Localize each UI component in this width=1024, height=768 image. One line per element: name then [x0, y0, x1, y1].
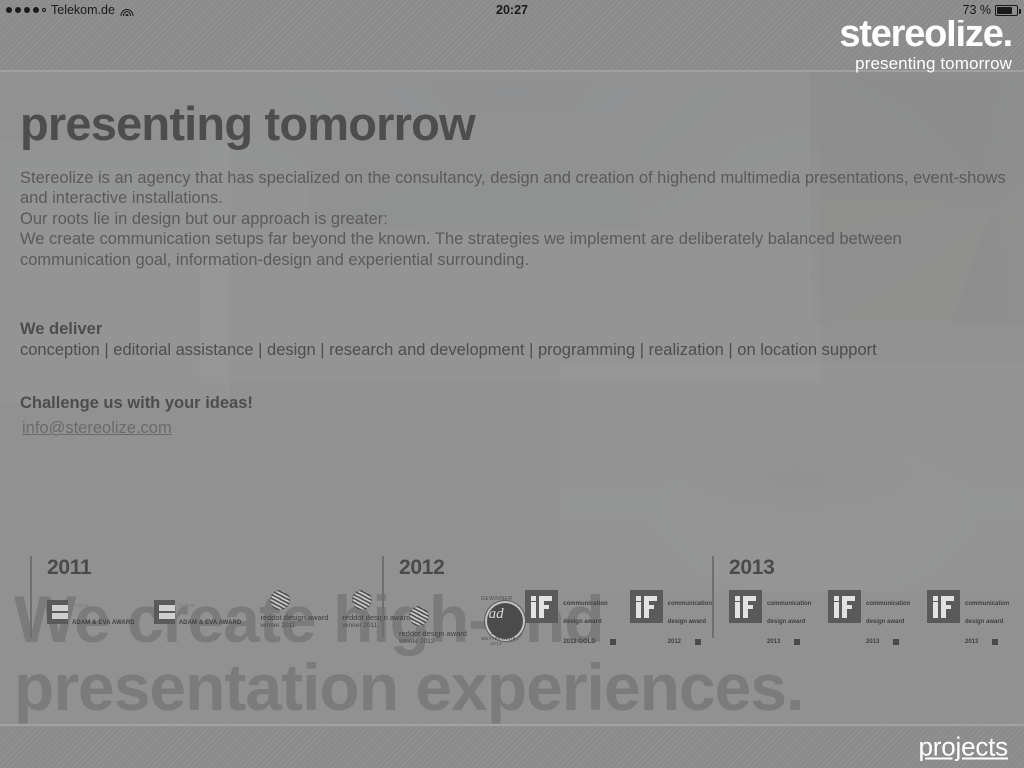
if-year: 2012	[668, 639, 681, 645]
award-badge-if: communication design award 2012 GOLD	[525, 590, 615, 645]
if-footer: 2013	[767, 639, 811, 645]
if-footer: 2013	[866, 639, 910, 645]
famab-label: FAMAB ADAM & EVA AWARD	[179, 595, 247, 629]
we-deliver-services: conception | editorial assistance | desi…	[20, 340, 877, 360]
award-badge-reddot: reddot design award winner 2011	[260, 590, 328, 629]
award-year-label: 2013	[729, 556, 1012, 580]
battery-percent-label: 73 %	[963, 0, 992, 20]
if-logo-icon	[525, 590, 558, 623]
if-label: communication design award 2013	[767, 590, 811, 645]
award-badge-if: communication design award 2012	[630, 590, 712, 645]
if-logo-icon	[729, 590, 762, 623]
famab-title: ADAM & EVA AWARD	[179, 620, 242, 626]
if-label: communication design award 2013	[866, 590, 910, 645]
award-badge-list: communication design award 2013 c	[729, 590, 1012, 645]
famab-org: FAMAB	[72, 603, 89, 608]
award-badge-famab: FAMAB ADAM & EVA AWARD	[154, 595, 247, 629]
if-title: communication design award	[668, 601, 712, 625]
reddot-subtitle: winner 2012	[399, 638, 467, 645]
if-year: 2013	[767, 639, 780, 645]
app-footer: projects	[0, 724, 1024, 768]
seal-top-text: GEWINNER	[481, 596, 511, 602]
reddot-logo-icon	[352, 590, 372, 610]
award-badge-reddot: reddot design award winner 2012	[399, 606, 467, 645]
award-badge-if: communication design award 2013	[927, 590, 1012, 645]
reddot-subtitle: winner 2011	[260, 622, 328, 629]
if-square-icon	[992, 639, 998, 645]
contact-email-link[interactable]: info@stereolize.com	[22, 419, 172, 438]
famab-title: ADAM & EVA AWARD	[72, 620, 135, 626]
if-title: communication design award	[767, 601, 811, 625]
intro-paragraph: Stereolize is an agency that has special…	[20, 168, 1010, 270]
reddot-title: reddot design award	[260, 613, 328, 622]
award-group-2013: 2013 communication design award 2013	[712, 556, 1012, 638]
if-label: communication design award 2012 GOLD	[563, 590, 615, 645]
award-badge-list: FAMAB ADAM & EVA AWARD FAMAB ADAM & EVA …	[47, 590, 378, 629]
brand-logo: stereolize. presenting tomorrow	[839, 16, 1012, 74]
main-content: presenting tomorrow Stereolize is an age…	[0, 72, 1024, 724]
famab-logo-icon	[154, 600, 175, 624]
if-year: 2012 GOLD	[563, 639, 595, 645]
award-badge-if: communication design award 2013	[828, 590, 913, 645]
projects-link[interactable]: projects	[919, 732, 1008, 763]
famab-org: FAMAB	[179, 603, 196, 608]
famab-logo-icon	[47, 600, 68, 624]
challenge-heading: Challenge us with your ideas!	[20, 394, 253, 413]
if-logo-icon	[828, 590, 861, 623]
brand-tagline: presenting tomorrow	[839, 54, 1012, 74]
awards-timeline: 2011 FAMAB ADAM & EVA AWARD FAMAB A	[30, 556, 1010, 638]
award-badge-adc-seal: GEWINNER ad ADC WETTBEWERB 2012	[481, 597, 511, 645]
seal-bottom-text: ADC WETTBEWERB 2012	[481, 631, 511, 646]
if-label: communication design award 2012	[668, 590, 712, 645]
famab-label: FAMAB ADAM & EVA AWARD	[72, 595, 140, 629]
battery-icon	[995, 5, 1018, 16]
status-bar: Telekom.de 20:27 73 %	[0, 0, 1024, 20]
status-bar-clock: 20:27	[0, 0, 1024, 20]
reddot-title: reddot design award	[399, 629, 467, 638]
if-square-icon	[695, 639, 701, 645]
if-label: communication design award 2013	[965, 590, 1009, 645]
if-title: communication design award	[965, 601, 1009, 625]
app-root: We create high-end presentation experien…	[0, 0, 1024, 768]
if-year: 2013	[866, 639, 879, 645]
if-year: 2013	[965, 639, 978, 645]
reddot-logo-icon	[409, 606, 429, 626]
if-footer: 2012	[668, 639, 712, 645]
seal-monogram: ad	[481, 606, 511, 623]
award-year-label: 2012	[399, 556, 712, 580]
brand-name: stereolize.	[839, 16, 1012, 52]
award-badge-if: communication design award 2013	[729, 590, 814, 645]
award-badge-famab: FAMAB ADAM & EVA AWARD	[47, 595, 140, 629]
if-footer: 2012 GOLD	[563, 639, 615, 645]
award-group-2011: 2011 FAMAB ADAM & EVA AWARD FAMAB A	[30, 556, 378, 638]
if-title: communication design award	[563, 601, 607, 625]
award-group-2012: 2012 reddot design award winner 2012 GEW…	[382, 556, 712, 638]
status-bar-right: 73 %	[963, 0, 1019, 20]
if-square-icon	[794, 639, 800, 645]
if-logo-icon	[927, 590, 960, 623]
award-badge-list: reddot design award winner 2012 GEWINNER…	[399, 590, 712, 645]
award-year-label: 2011	[47, 556, 378, 580]
if-footer: 2013	[965, 639, 1009, 645]
page-title: presenting tomorrow	[20, 96, 475, 151]
if-logo-icon	[630, 590, 663, 623]
if-square-icon	[610, 639, 616, 645]
we-deliver-heading: We deliver	[20, 320, 102, 339]
reddot-logo-icon	[270, 590, 290, 610]
if-square-icon	[893, 639, 899, 645]
if-title: communication design award	[866, 601, 910, 625]
